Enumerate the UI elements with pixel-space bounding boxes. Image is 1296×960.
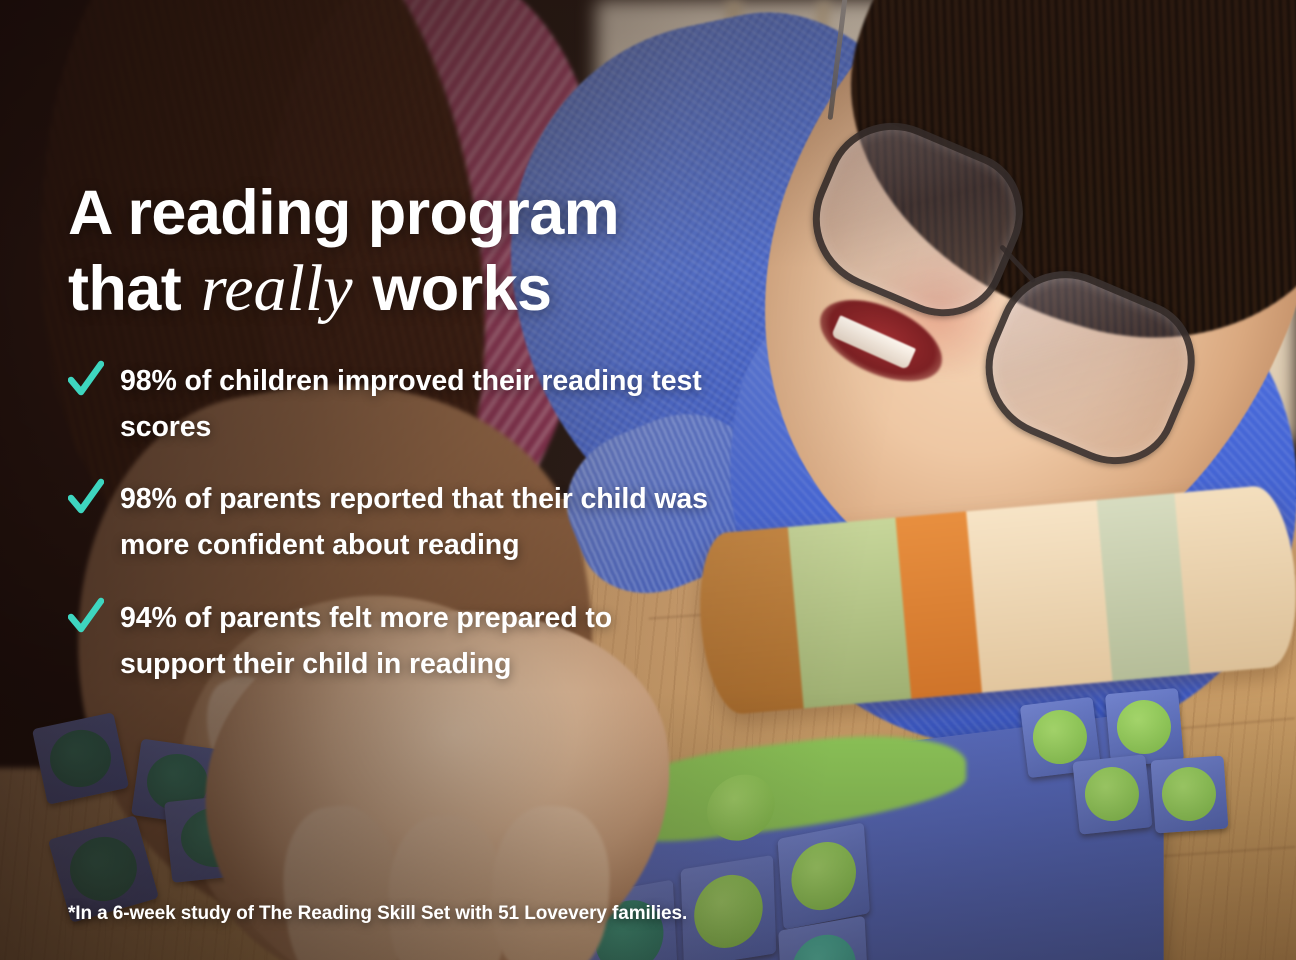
check-icon (68, 597, 104, 637)
list-item: 94% of parents felt more prepared to sup… (68, 595, 708, 687)
headline-line-2-suffix: works (355, 254, 551, 324)
check-icon (68, 360, 104, 400)
list-item: 98% of parents reported that their child… (68, 476, 708, 568)
benefit-text: 98% of parents reported that their child… (120, 476, 708, 568)
benefits-list: 98% of children improved their reading t… (68, 358, 708, 713)
banner-content: A reading program that really works 98% … (0, 0, 1296, 960)
headline-line-2-prefix: that (68, 254, 198, 324)
promo-banner: A reading program that really works 98% … (0, 0, 1296, 960)
headline-line-1: A reading program (68, 178, 619, 248)
footnote: *In a 6-week study of The Reading Skill … (68, 903, 687, 925)
headline-emphasis: really (198, 252, 356, 325)
benefit-text: 94% of parents felt more prepared to sup… (120, 595, 708, 687)
list-item: 98% of children improved their reading t… (68, 358, 708, 450)
check-icon (68, 478, 104, 518)
page-title: A reading program that really works (68, 176, 619, 328)
benefit-text: 98% of children improved their reading t… (120, 358, 708, 450)
